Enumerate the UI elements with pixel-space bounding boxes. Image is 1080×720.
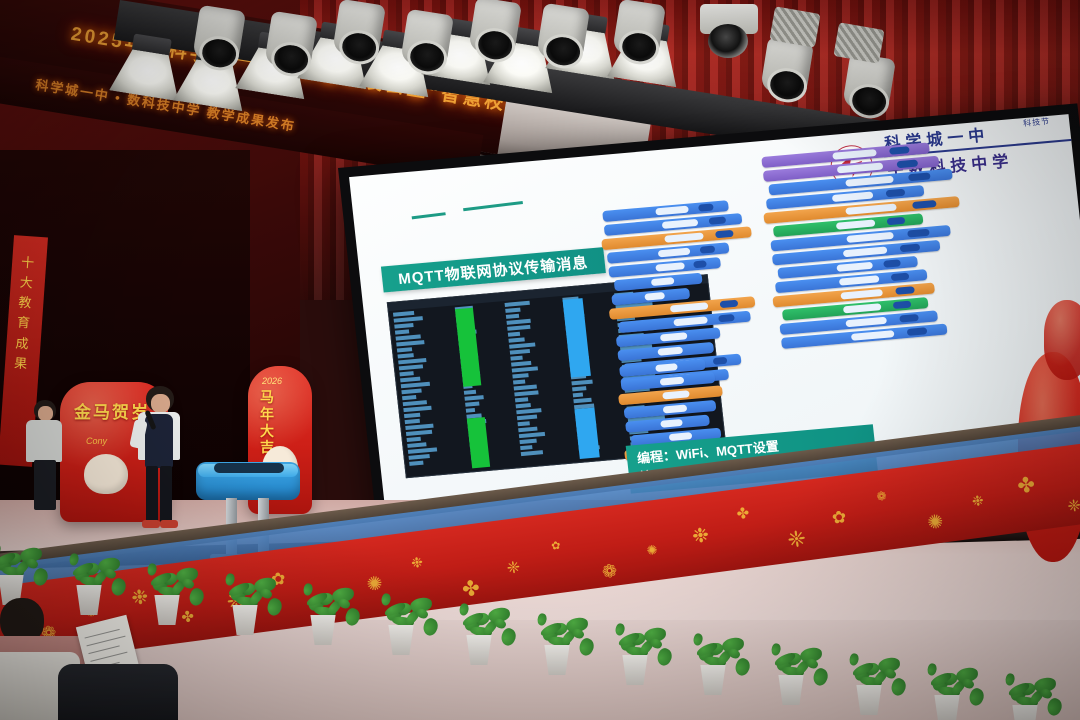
block-value-slot[interactable] (887, 217, 906, 226)
potted-plant (698, 633, 732, 695)
potted-plant (0, 543, 30, 605)
moving-head-light-icon (468, 0, 522, 57)
auditorium-screenshot: 2025年度科学城一中高质量发展会暨“智慧校园”成果展示 科学城一中 • 数科技… (0, 0, 1080, 720)
plant-pot (620, 655, 650, 685)
plant-pot (308, 615, 338, 645)
block-script-right[interactable] (757, 140, 973, 352)
block-input-field[interactable] (662, 219, 699, 229)
plant-pot (776, 675, 806, 705)
block-input-field[interactable] (655, 206, 689, 216)
block-input-field[interactable] (655, 363, 678, 372)
block-value-slot[interactable] (709, 216, 727, 224)
potted-plant (542, 613, 576, 675)
block-value-slot[interactable] (886, 189, 906, 198)
block-input-field[interactable] (851, 330, 895, 341)
block-value-slot[interactable] (718, 314, 735, 322)
skirt-ornament-icon: ✿ (831, 507, 848, 529)
block-input-field[interactable] (663, 404, 688, 413)
block-input-field[interactable] (658, 248, 691, 258)
block-input-field[interactable] (660, 377, 685, 386)
terminal-column (393, 310, 444, 468)
block-value-slot[interactable] (883, 259, 901, 267)
presenter-face (151, 394, 170, 413)
audience-torso (58, 664, 178, 720)
block-input-field[interactable] (657, 347, 683, 356)
skirt-ornament-icon: ❁ (601, 560, 619, 583)
block-value-slot[interactable] (891, 273, 910, 282)
block-input-field[interactable] (836, 262, 873, 272)
podium-screen (214, 463, 284, 473)
skirt-ornament-icon: ✺ (646, 542, 659, 559)
logo-superscript: 科技节 (1023, 116, 1051, 129)
potted-plant (620, 623, 654, 685)
moving-head-light-icon (192, 5, 246, 66)
block-input-field[interactable] (839, 275, 880, 285)
potted-plant (776, 643, 810, 705)
ny-banner-2-sub: 2026 (262, 376, 282, 386)
block-value-slot[interactable] (912, 200, 937, 209)
block-input-field[interactable] (670, 302, 709, 312)
red-lantern-decor (1044, 300, 1080, 380)
assistant-face (38, 406, 53, 421)
block-input-field[interactable] (843, 246, 888, 257)
accent-dash (412, 212, 446, 219)
plant-pot (152, 595, 182, 625)
skirt-ornament-icon: ❉ (691, 522, 711, 549)
presenter-leg (160, 466, 172, 524)
block-input-field[interactable] (845, 203, 897, 214)
block-input-field[interactable] (840, 289, 883, 300)
presenter-leg (146, 466, 158, 524)
horse-mascot-icon (84, 454, 128, 494)
block-value-slot[interactable] (908, 172, 931, 181)
block-input-field[interactable] (837, 163, 884, 174)
block-input-field[interactable] (843, 303, 882, 313)
assistant-shirt (26, 420, 62, 462)
potted-plant (386, 593, 420, 655)
plant-pot (230, 605, 260, 635)
plant-pot (698, 665, 728, 695)
block-input-field[interactable] (644, 292, 665, 301)
presenter (132, 386, 192, 536)
skirt-ornament-icon: ❉ (410, 554, 424, 572)
block-value-slot[interactable] (693, 260, 707, 268)
moving-head-light-icon (400, 9, 454, 70)
moving-head-light-icon (536, 3, 590, 64)
plant-pot (932, 695, 962, 720)
skirt-ornament-icon: ❈ (786, 526, 808, 554)
potted-plant (464, 603, 498, 665)
plant-pot (464, 635, 494, 665)
potted-plant (854, 653, 888, 715)
potted-plant (152, 563, 186, 625)
block-input-field[interactable] (660, 419, 683, 428)
block-input-field[interactable] (655, 262, 685, 271)
plant-pot (542, 645, 572, 675)
block-value-slot[interactable] (907, 327, 928, 336)
block-input-field[interactable] (651, 277, 675, 286)
moving-head-light-icon (612, 0, 666, 59)
vertical-banner-text: 十大教育成果 (13, 254, 37, 376)
skirt-ornament-icon: ✤ (1016, 472, 1037, 499)
plant-pot (854, 685, 884, 715)
potted-plant (308, 583, 342, 645)
skirt-ornament-icon: ❁ (876, 489, 888, 504)
plant-pot (1010, 705, 1040, 720)
camera-lens (708, 24, 748, 58)
ny-banner-1-sub: Cony (86, 436, 107, 446)
moving-head-light-icon (264, 11, 318, 72)
block-input-field[interactable] (662, 390, 690, 399)
audience-member (58, 664, 178, 720)
presenter-shoe (142, 520, 160, 528)
block-value-slot[interactable] (698, 203, 714, 211)
skirt-ornament-icon: ❉ (971, 492, 985, 510)
block-value-slot[interactable] (720, 300, 739, 309)
block-value-slot[interactable] (889, 146, 910, 155)
skirt-ornament-icon: ✿ (550, 539, 561, 553)
skirt-ornament-icon: ✤ (461, 576, 482, 603)
block-input-field[interactable] (673, 316, 708, 326)
block-input-field[interactable] (846, 232, 894, 243)
block-value-slot[interactable] (700, 245, 716, 253)
stage-assistant (22, 400, 70, 520)
block-input-field[interactable] (664, 232, 704, 242)
potted-plant (1010, 673, 1044, 720)
skirt-ornament-icon: ✺ (926, 510, 945, 535)
accent-dash (463, 201, 523, 211)
potted-plant (230, 573, 264, 635)
skirt-ornament-icon: ❈ (1066, 495, 1080, 517)
block-value-slot[interactable] (895, 286, 915, 295)
ptz-camera-icon (700, 4, 758, 54)
block-value-slot[interactable] (900, 244, 921, 253)
skirt-ornament-icon: ❈ (506, 557, 522, 579)
podium-display-board[interactable] (196, 462, 300, 500)
terminal-column (505, 300, 552, 458)
skirt-ornament-icon: ✤ (736, 504, 751, 523)
potted-plant (932, 663, 966, 720)
block-value-slot[interactable] (897, 159, 919, 168)
block-input-field[interactable] (832, 191, 874, 202)
moving-head-light-icon (332, 0, 386, 59)
block-input-field[interactable] (845, 317, 887, 328)
presenter-shoe (160, 520, 178, 528)
block-value-slot[interactable] (907, 229, 930, 238)
assistant-legs (34, 460, 56, 510)
block-value-slot[interactable] (899, 314, 919, 323)
block-input-field[interactable] (845, 176, 894, 187)
block-value-slot[interactable] (893, 301, 912, 310)
block-input-field[interactable] (832, 149, 877, 160)
plant-pot (386, 625, 416, 655)
block-input-field[interactable] (836, 219, 876, 229)
block-value-slot[interactable] (715, 230, 734, 239)
block-input-field[interactable] (660, 332, 688, 341)
